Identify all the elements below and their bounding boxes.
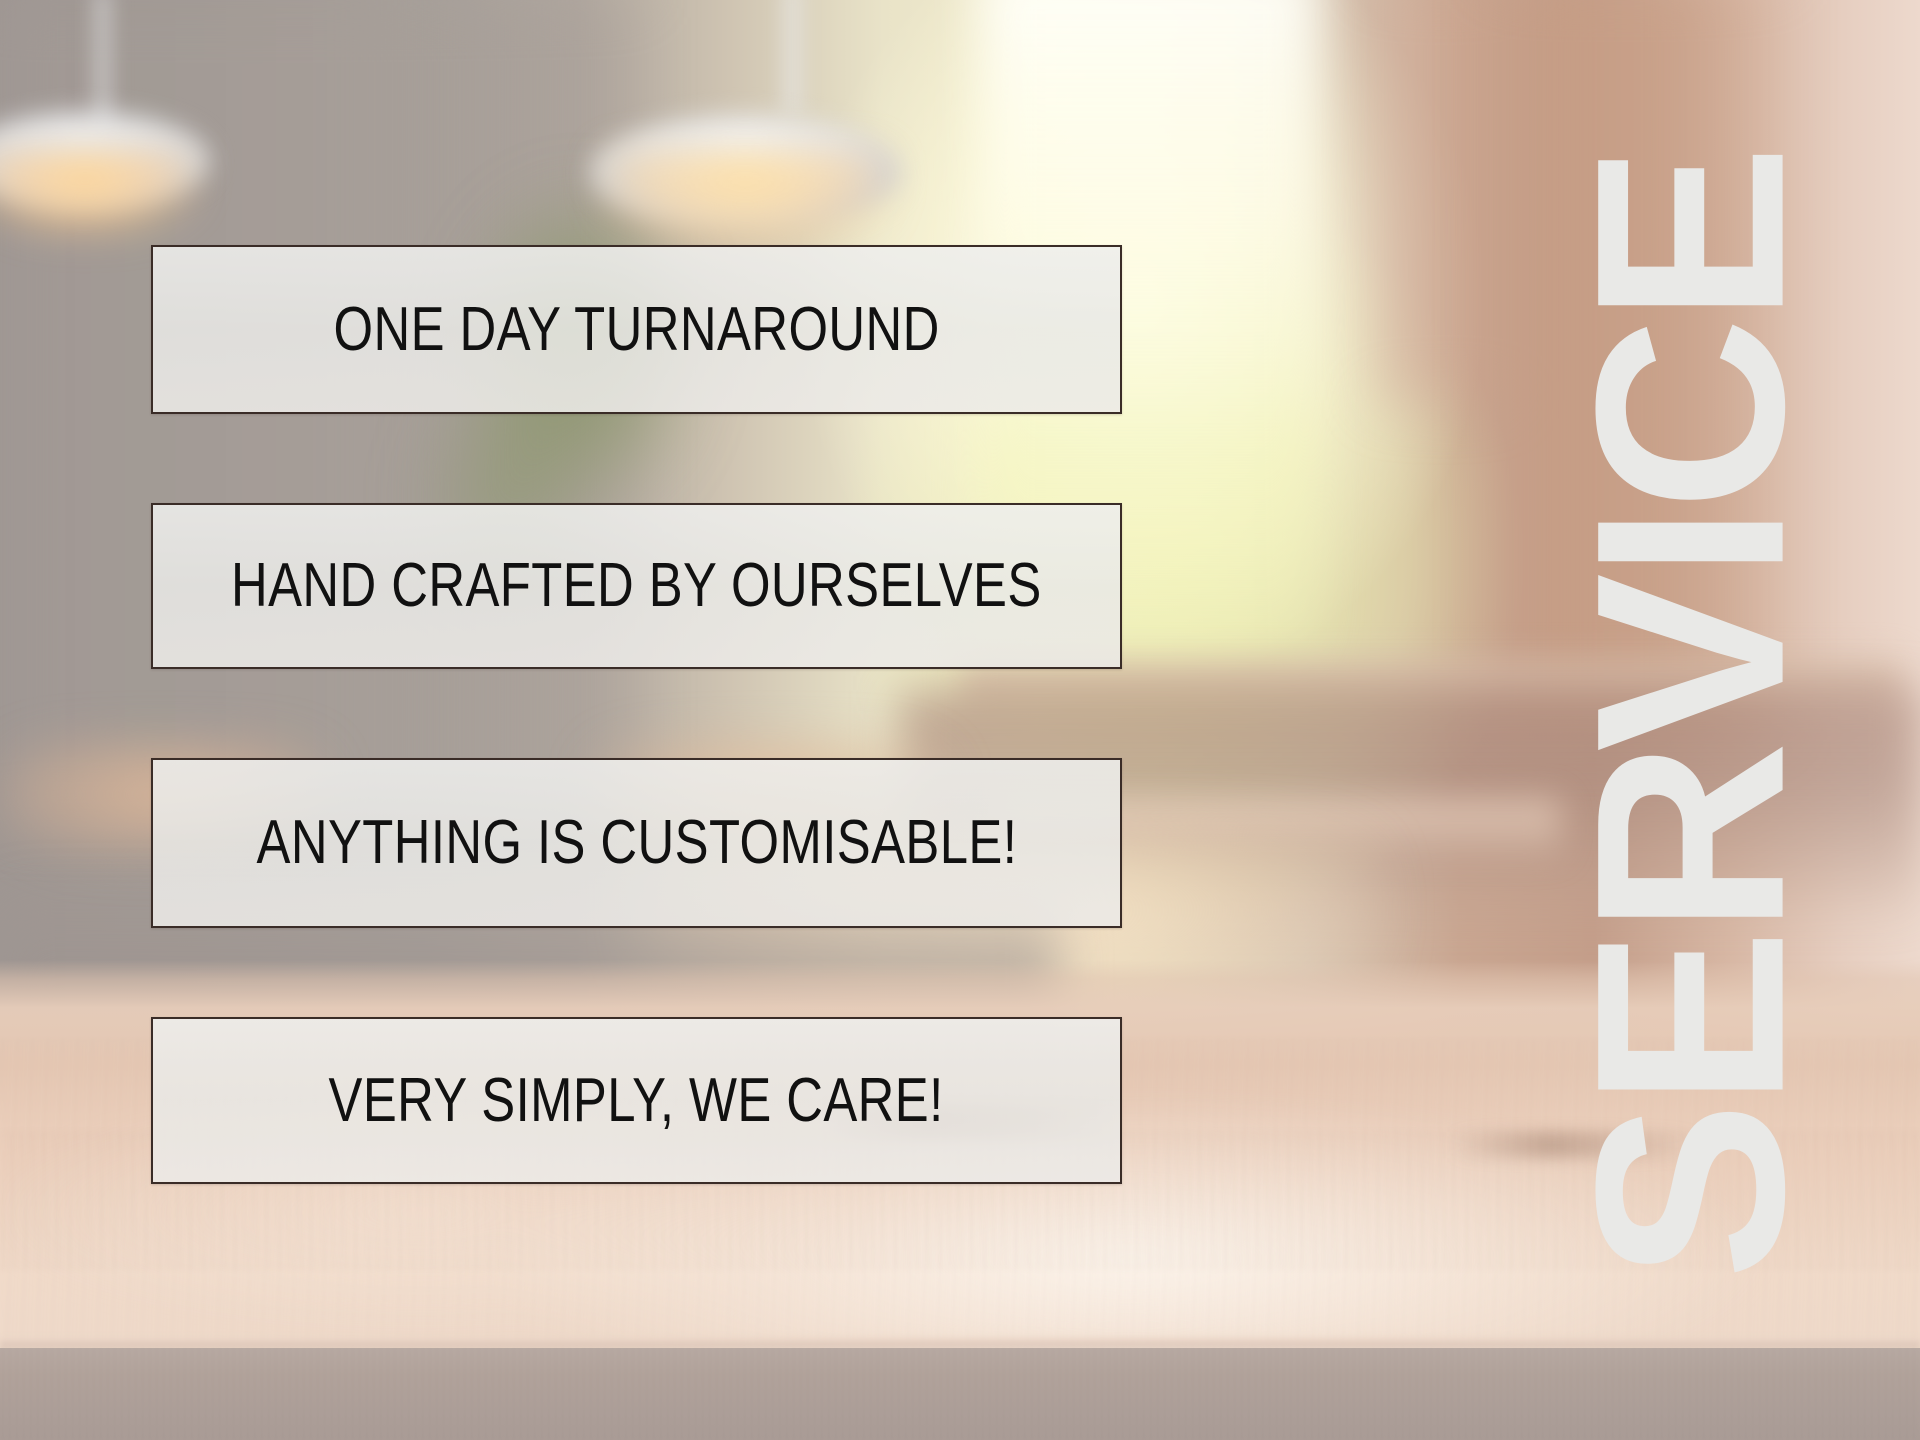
callout-box-handcrafted[interactable]: HAND CRAFTED BY OURSELVES xyxy=(151,503,1122,669)
pendant-lamp-center-glow xyxy=(600,150,890,250)
callout-label-we-care: VERY SIMPLY, WE CARE! xyxy=(329,1070,944,1132)
callout-box-we-care[interactable]: VERY SIMPLY, WE CARE! xyxy=(151,1017,1122,1184)
wood-knot-mark-2 xyxy=(1450,1132,1700,1158)
wood-table-front-lip xyxy=(0,1338,1920,1348)
pendant-lamp-left-glow xyxy=(0,150,200,240)
callout-label-turnaround: ONE DAY TURNAROUND xyxy=(333,299,939,361)
wood-table-front-edge xyxy=(0,1348,1920,1440)
callout-label-customisable: ANYTHING IS CUSTOMISABLE! xyxy=(256,812,1017,874)
callout-box-customisable[interactable]: ANYTHING IS CUSTOMISABLE! xyxy=(151,758,1122,928)
right-column-brown xyxy=(1480,0,1780,740)
callout-box-stack: ONE DAY TURNAROUND HAND CRAFTED BY OURSE… xyxy=(151,245,1122,1184)
pendant-lamp-center-cord xyxy=(780,0,806,112)
callout-label-handcrafted: HAND CRAFTED BY OURSELVES xyxy=(231,555,1042,617)
service-slide: SERVICE ONE DAY TURNAROUND HAND CRAFTED … xyxy=(0,0,1920,1440)
callout-box-turnaround[interactable]: ONE DAY TURNAROUND xyxy=(151,245,1122,414)
